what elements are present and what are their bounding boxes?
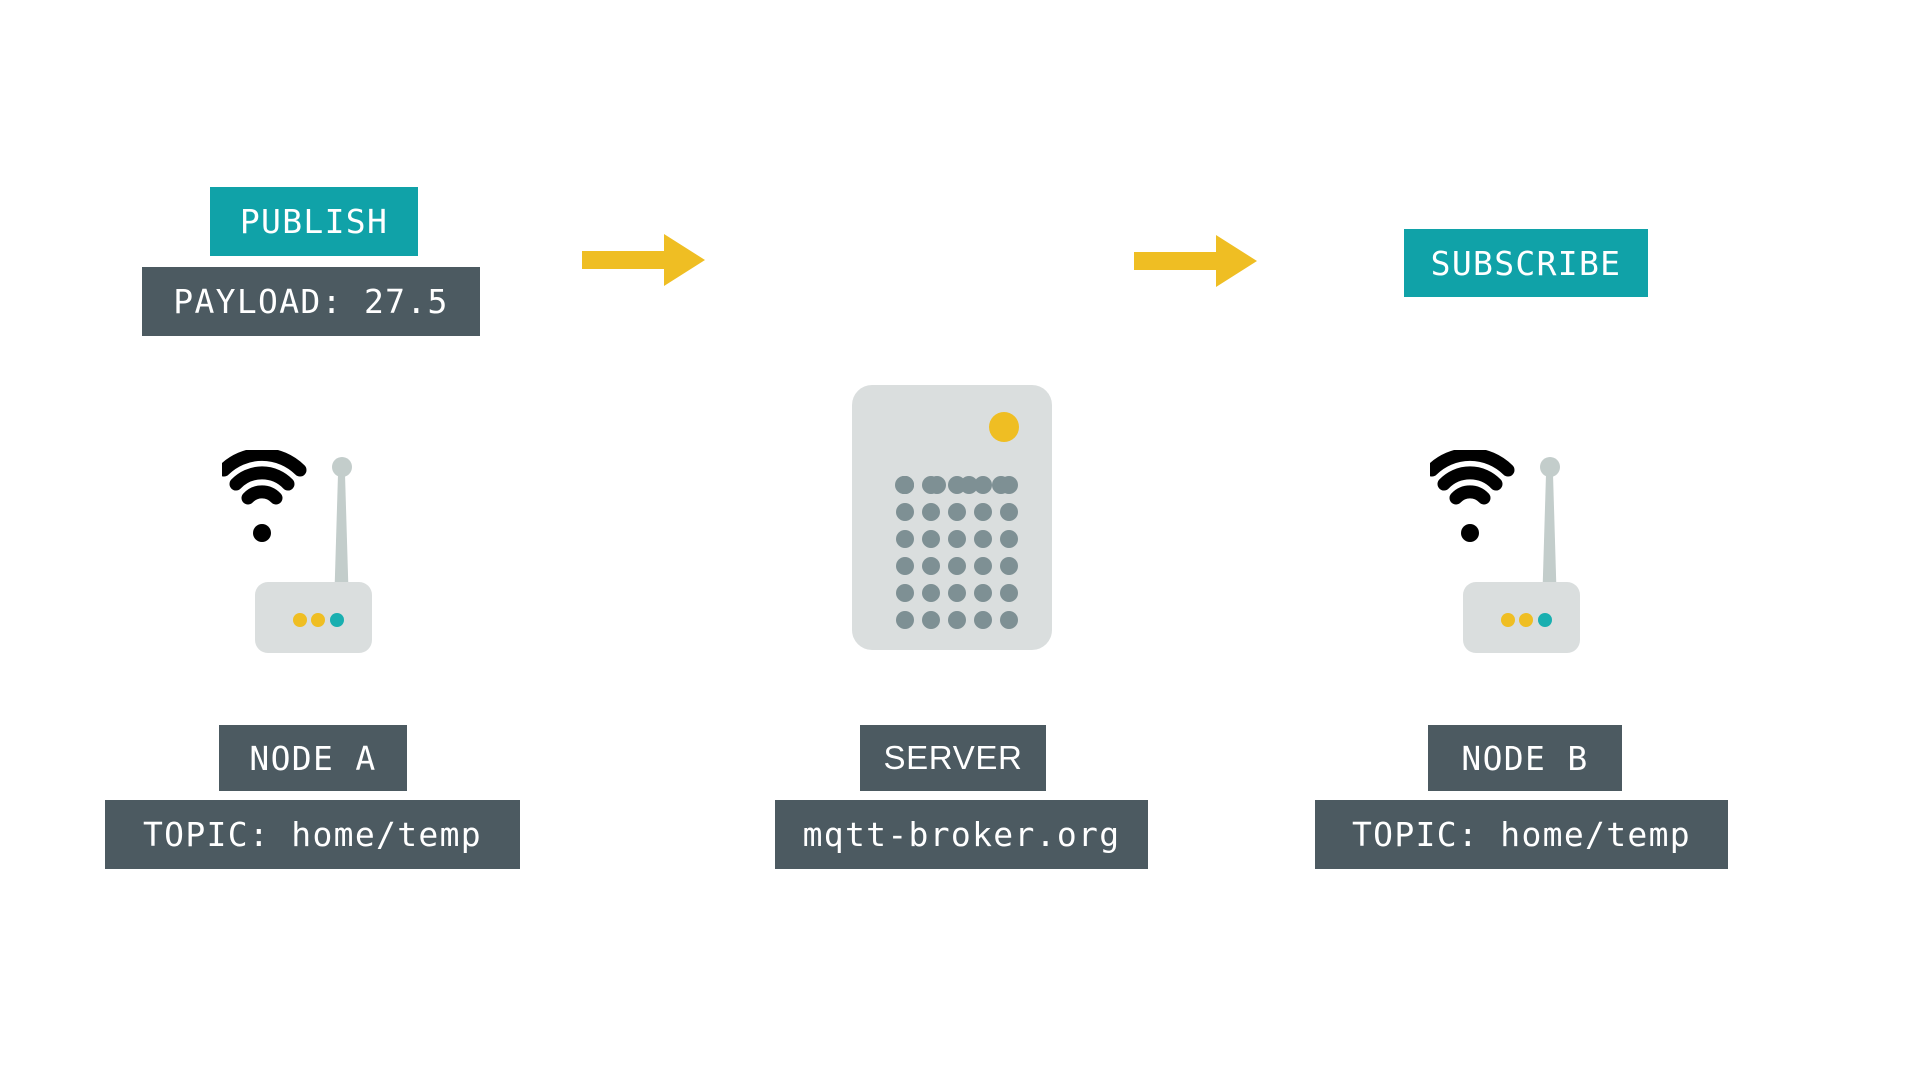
server-host-label: mqtt-broker.org bbox=[775, 800, 1148, 869]
router-led-2-icon bbox=[1519, 613, 1533, 627]
antenna-tip-icon bbox=[1540, 457, 1560, 477]
server-status-led-icon bbox=[989, 412, 1019, 442]
router-led-1-icon bbox=[1501, 613, 1515, 627]
node-b-name-label: NODE B bbox=[1428, 725, 1622, 791]
antenna-tip-icon bbox=[332, 457, 352, 477]
node-a-name-label: NODE A bbox=[219, 725, 407, 791]
wifi-dot-icon bbox=[1461, 524, 1479, 542]
router-led-2-icon bbox=[311, 613, 325, 627]
server-name-label: SERVER bbox=[860, 725, 1046, 791]
wifi-signal-icon bbox=[224, 454, 300, 498]
mqtt-flow-diagram: PUBLISH PAYLOAD: 27.5 NODE A TOPIC: home… bbox=[0, 0, 1920, 1080]
node-b-router-icon bbox=[1430, 450, 1610, 660]
server-icon bbox=[852, 385, 1052, 650]
subscribe-badge: SUBSCRIBE bbox=[1404, 229, 1648, 297]
arrow-right-icon-1 bbox=[578, 232, 708, 288]
router-led-3-icon bbox=[330, 613, 344, 627]
payload-label: PAYLOAD: 27.5 bbox=[142, 267, 480, 336]
wifi-signal-icon bbox=[1432, 454, 1508, 498]
node-b-topic-label: TOPIC: home/temp bbox=[1315, 800, 1728, 869]
arrow-right-icon-2 bbox=[1130, 233, 1260, 289]
node-a-router-icon bbox=[222, 450, 402, 660]
wifi-dot-icon bbox=[253, 524, 271, 542]
router-led-1-icon bbox=[293, 613, 307, 627]
publish-badge: PUBLISH bbox=[210, 187, 418, 256]
router-led-3-icon bbox=[1538, 613, 1552, 627]
node-a-topic-label: TOPIC: home/temp bbox=[105, 800, 520, 869]
